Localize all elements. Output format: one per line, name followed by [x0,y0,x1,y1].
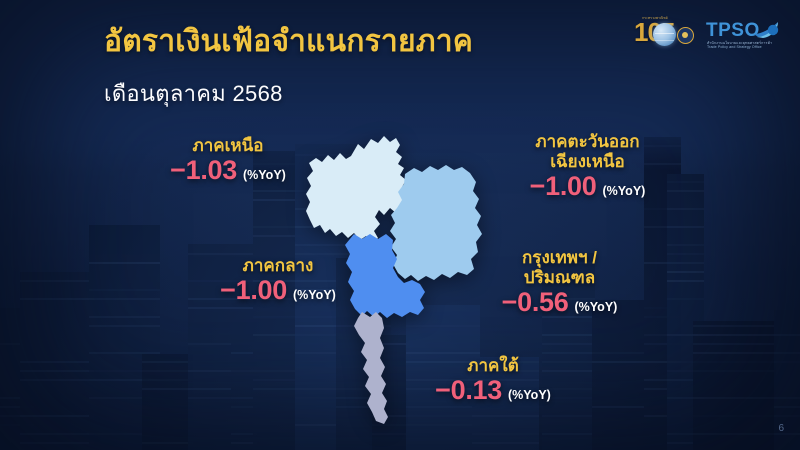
callout-northeast: ภาคตะวันออก เฉียงเหนือ −1.00 (%YoY) [480,132,695,200]
callout-central: ภาคกลาง −1.00 (%YoY) [178,256,378,304]
callout-northeast-label-line2: เฉียงเหนือ [480,152,695,172]
seal-icon [677,27,694,44]
callout-north: ภาคเหนือ −1.03 (%YoY) [128,136,328,184]
tpso-logo: TPSO สำนักงานนโยบายและยุทธศาสตร์การค้า T… [706,19,780,53]
callout-bangkok-label-line1: กรุงเทพฯ / [452,248,667,268]
tpso-acronym: TPSO [706,21,760,40]
callout-south-label: ภาคใต้ [398,356,588,376]
callout-south-value-row: −0.13 (%YoY) [398,377,588,404]
callout-south-value: −0.13 [435,377,502,404]
slide-canvas: อัตราเงินเฟ้อจำแนกรายภาค เดือนตุลาคม 256… [0,0,800,450]
callout-north-value-row: −1.03 (%YoY) [128,157,328,184]
swoosh-icon [753,21,779,38]
callout-central-label: ภาคกลาง [178,256,378,276]
callout-bangkok-unit: (%YoY) [575,301,618,317]
105-anniversary-logo: กระทรวงพาณิชย์ 105 [634,15,696,57]
callout-bangkok-label-line2: ปริมณฑล [452,268,667,288]
callout-northeast-label-line1: ภาคตะวันออก [480,132,695,152]
logo-group: กระทรวงพาณิชย์ 105 TPSO สำนักงานนโยบายแล… [634,14,780,58]
tpso-english-line: Trade Policy and Strategy Office [707,45,762,49]
callout-south: ภาคใต้ −0.13 (%YoY) [398,356,588,404]
callout-northeast-value: −1.00 [530,173,597,200]
callout-bangkok-value: −0.56 [502,289,569,316]
callout-north-value: −1.03 [170,157,237,184]
map-region-south[interactable] [354,312,388,424]
callout-bangkok: กรุงเทพฯ / ปริมณฑล −0.56 (%YoY) [452,248,667,316]
callout-northeast-value-row: −1.00 (%YoY) [480,173,695,200]
globe-icon [653,23,676,46]
callout-south-unit: (%YoY) [508,389,551,405]
callout-central-unit: (%YoY) [293,289,336,305]
callout-northeast-unit: (%YoY) [603,185,646,201]
page-subtitle: เดือนตุลาคม 2568 [104,76,283,111]
callout-central-value: −1.00 [220,277,287,304]
callout-central-value-row: −1.00 (%YoY) [178,277,378,304]
callout-north-unit: (%YoY) [243,169,286,185]
page-number: 6 [778,423,784,434]
page-title: อัตราเงินเฟ้อจำแนกรายภาค [104,26,473,58]
callout-north-label: ภาคเหนือ [128,136,328,156]
callout-bangkok-value-row: −0.56 (%YoY) [452,289,667,316]
